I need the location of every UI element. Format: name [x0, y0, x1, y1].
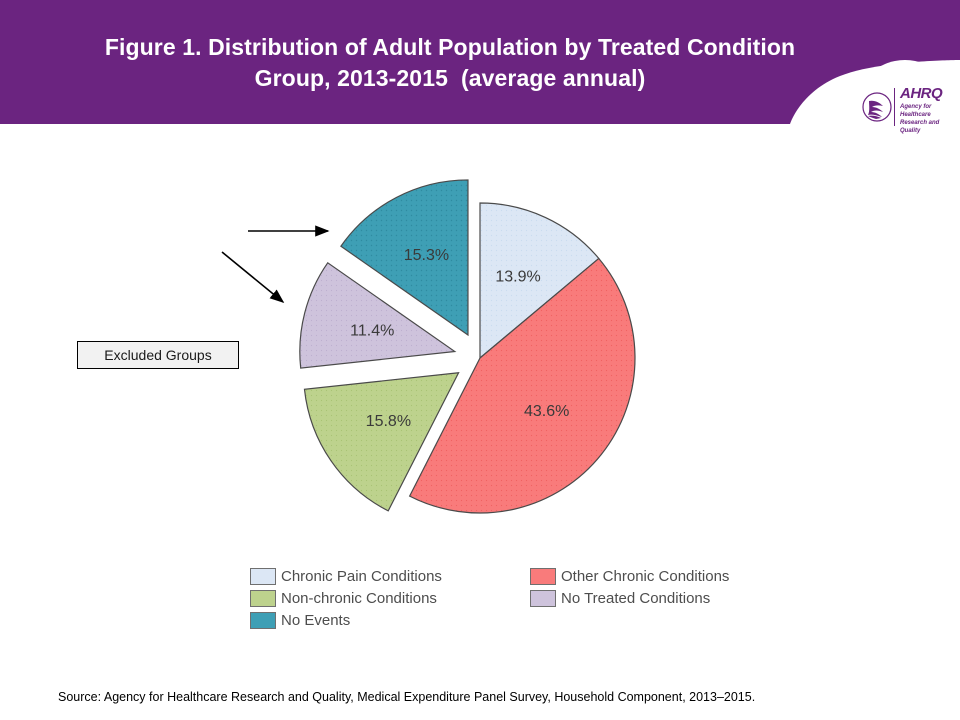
legend-swatch — [530, 590, 556, 607]
legend-label: Non-chronic Conditions — [281, 590, 437, 607]
ahrq-tagline-line-1: Agency for Healthcare — [900, 103, 958, 119]
pie-slice-label: 15.3% — [404, 247, 449, 264]
hhs-eagle-icon — [862, 87, 892, 129]
legend-item[interactable]: No Treated Conditions — [530, 588, 710, 608]
pie-slices — [300, 180, 635, 513]
excluded-groups-callout: Excluded Groups — [77, 341, 239, 369]
legend-label: No Treated Conditions — [561, 590, 710, 607]
legend-swatch — [530, 568, 556, 585]
page-title-line-2: Group, 2013-2015 (average annual) — [0, 63, 900, 94]
legend-swatch — [250, 612, 276, 629]
page-title: Figure 1. Distribution of Adult Populati… — [0, 32, 900, 94]
pie-slice-label: 43.6% — [524, 403, 569, 420]
pie-chart: 13.9%43.6%15.8%11.4%15.3% Excluded Group… — [0, 124, 960, 564]
page-title-line-1: Figure 1. Distribution of Adult Populati… — [0, 32, 900, 63]
legend-label: Other Chronic Conditions — [561, 568, 729, 585]
source-note: Source: Agency for Healthcare Research a… — [58, 690, 755, 704]
pie-slice-label: 13.9% — [495, 269, 540, 286]
legend-label: Chronic Pain Conditions — [281, 568, 442, 585]
legend-item[interactable]: No Events — [250, 610, 350, 630]
callout-arrow-no-treated-conditions — [222, 252, 283, 302]
pie-slice-label: 11.4% — [350, 322, 394, 339]
ahrq-wordmark: AHRQ — [900, 86, 942, 101]
legend-item[interactable]: Chronic Pain Conditions — [250, 566, 442, 586]
logo-divider — [894, 88, 895, 126]
legend-item[interactable]: Non-chronic Conditions — [250, 588, 437, 608]
legend-swatch — [250, 590, 276, 607]
chart-legend: Chronic Pain ConditionsOther Chronic Con… — [250, 566, 770, 636]
pie-slice-label: 15.8% — [366, 413, 411, 430]
excluded-groups-label: Excluded Groups — [104, 347, 211, 363]
legend-label: No Events — [281, 612, 350, 629]
legend-swatch — [250, 568, 276, 585]
legend-item[interactable]: Other Chronic Conditions — [530, 566, 729, 586]
